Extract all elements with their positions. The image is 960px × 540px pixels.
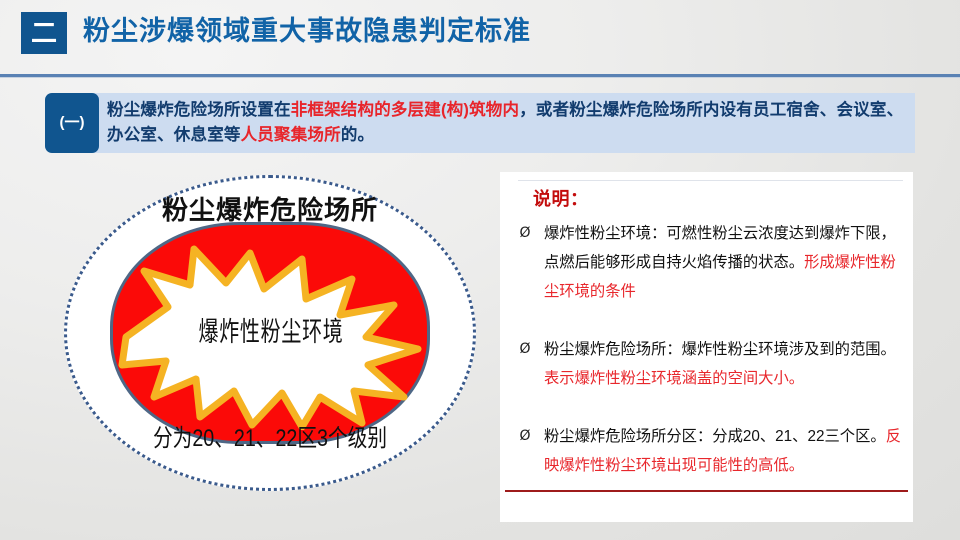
note-text-red: 表示爆炸性粉尘环境涵盖的空间大小。: [544, 370, 804, 387]
note-item: Ø 粉尘爆炸危险场所：爆炸性粉尘环境涉及到的范围。表示爆炸性粉尘环境涵盖的空间大…: [512, 335, 904, 393]
notes-heading: 说明：: [533, 185, 589, 211]
note-body: 粉尘爆炸危险场所分区：分成20、21、22三个区。反映爆炸性粉尘环境出现可能性的…: [544, 422, 904, 480]
slide-header: 二 粉尘涉爆领域重大事故隐患判定标准: [0, 0, 960, 75]
note-item: Ø 爆炸性粉尘环境：可燃性粉尘云浓度达到爆炸下限，点燃后能够形成自持火焰传播的状…: [512, 219, 904, 306]
note-text-black: 粉尘爆炸危险场所：爆炸性粉尘环境涉及到的范围。: [544, 341, 896, 358]
hazard-zone-diagram: 粉尘爆炸危险场所 爆炸性粉尘环境 分为20、21、22区3个级别: [50, 170, 490, 525]
bullet-glyph-icon: Ø: [512, 422, 538, 451]
horizontal-red-rule: [505, 490, 908, 492]
diagram-outer-label: 粉尘爆炸危险场所: [64, 190, 476, 227]
note-item: Ø 粉尘爆炸危险场所分区：分成20、21、22三个区。反映爆炸性粉尘环境出现可能…: [512, 422, 904, 480]
callout-line1-part2: ，或者粉尘爆炸危险场所内: [519, 101, 719, 119]
callout-line1-highlight: 非框架结构的多层建(构)筑物内: [291, 101, 520, 119]
callout-item-badge: (一): [45, 93, 99, 153]
section-number-badge: 二: [21, 12, 67, 54]
note-text-black: 粉尘爆炸危险场所分区：分成20、21、22三个区。: [544, 428, 886, 445]
header-divider-light: [0, 77, 960, 78]
page-title: 粉尘涉爆领域重大事故隐患判定标准: [83, 9, 531, 48]
explanation-panel: 说明： Ø 爆炸性粉尘环境：可燃性粉尘云浓度达到爆炸下限，点燃后能够形成自持火焰…: [500, 172, 913, 522]
callout-line1-part1: 粉尘爆炸危险场所设置在: [107, 101, 291, 119]
diagram-burst-label: 爆炸性粉尘环境: [156, 310, 385, 349]
callout-banner: (一) 粉尘爆炸危险场所设置在非框架结构的多层建(构)筑物内，或者粉尘爆炸危险场…: [45, 93, 915, 153]
notes-top-divider: [518, 180, 903, 181]
callout-line2-highlight: 人员聚集场所: [241, 126, 341, 144]
bullet-glyph-icon: Ø: [512, 335, 538, 364]
diagram-footer-label: 分为20、21、22区3个级别: [139, 418, 401, 453]
callout-text: 粉尘爆炸危险场所设置在非框架结构的多层建(构)筑物内，或者粉尘爆炸危险场所内设有…: [107, 98, 909, 148]
note-body: 爆炸性粉尘环境：可燃性粉尘云浓度达到爆炸下限，点燃后能够形成自持火焰传播的状态。…: [544, 219, 904, 306]
note-body: 粉尘爆炸危险场所：爆炸性粉尘环境涉及到的范围。表示爆炸性粉尘环境涵盖的空间大小。: [544, 335, 904, 393]
bullet-glyph-icon: Ø: [512, 219, 538, 248]
callout-line2-part2: 的。: [341, 126, 374, 144]
